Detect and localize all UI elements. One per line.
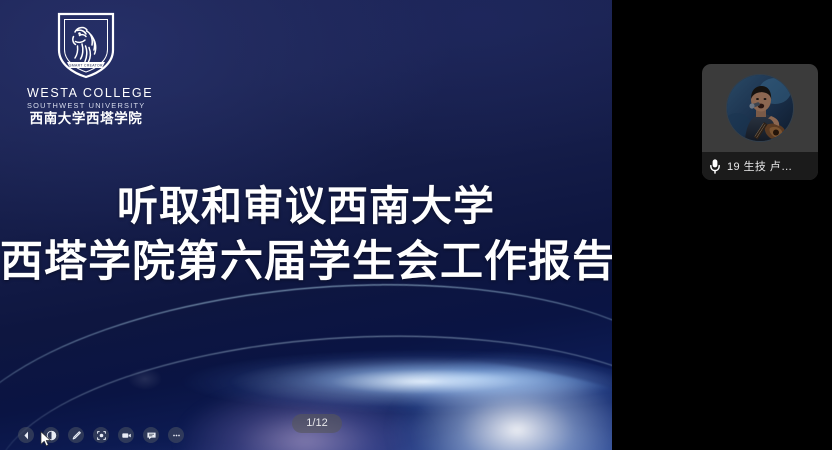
slide-title-line-1: 听取和审议西南大学 [0,178,612,234]
slide-title-line-2: 西塔学院第六届学生会工作报告 [0,234,612,290]
slide-light-speck [128,368,162,390]
emblem-banner-text: SMART CREATOR [69,63,103,67]
page-indicator: 1/12 [292,414,342,433]
pen-tool-icon [71,430,82,441]
logo-line-westa-college: WESTA COLLEGE [27,86,145,100]
more-options-button[interactable] [168,427,184,443]
logo-line-chinese: 西南大学西塔学院 [27,111,145,128]
laser-pointer-button[interactable] [93,427,109,443]
person-with-guitar-avatar [727,75,793,141]
participant-footer: 19 生技 卢… [702,152,818,180]
previous-slide-icon [21,430,32,441]
laser-pointer-icon [96,430,107,441]
pointer-tool-icon [46,430,57,441]
avatar [726,74,794,142]
logo-line-southwest-university: SOUTHWEST UNIVERSITY [27,100,145,111]
chat-button[interactable] [143,427,159,443]
participant-video-area [702,64,818,152]
microphone-icon[interactable] [709,158,721,174]
more-options-icon [171,430,182,441]
pointer-tool-button[interactable] [43,427,59,443]
chat-icon [146,430,157,441]
pen-tool-button[interactable] [68,427,84,443]
shield-lion-emblem-icon: SMART CREATOR [55,10,117,80]
slide-corner-glow [352,330,612,450]
participant-video-tile[interactable]: 19 生技 卢… [702,64,818,180]
video-icon [121,430,132,441]
westa-college-logo: SMART CREATOR WESTA COLLEGE SOUTHWEST UN… [27,10,145,128]
slide-title: 听取和审议西南大学 西塔学院第六届学生会工作报告 [0,178,612,290]
meeting-screen: SMART CREATOR WESTA COLLEGE SOUTHWEST UN… [0,0,832,450]
slide-purple-glow [140,366,470,450]
previous-slide-button[interactable] [18,427,34,443]
participant-name: 19 生技 卢… [727,158,793,174]
shared-slide[interactable]: SMART CREATOR WESTA COLLEGE SOUTHWEST UN… [0,0,612,450]
presentation-toolbar[interactable] [18,427,184,443]
video-button[interactable] [118,427,134,443]
